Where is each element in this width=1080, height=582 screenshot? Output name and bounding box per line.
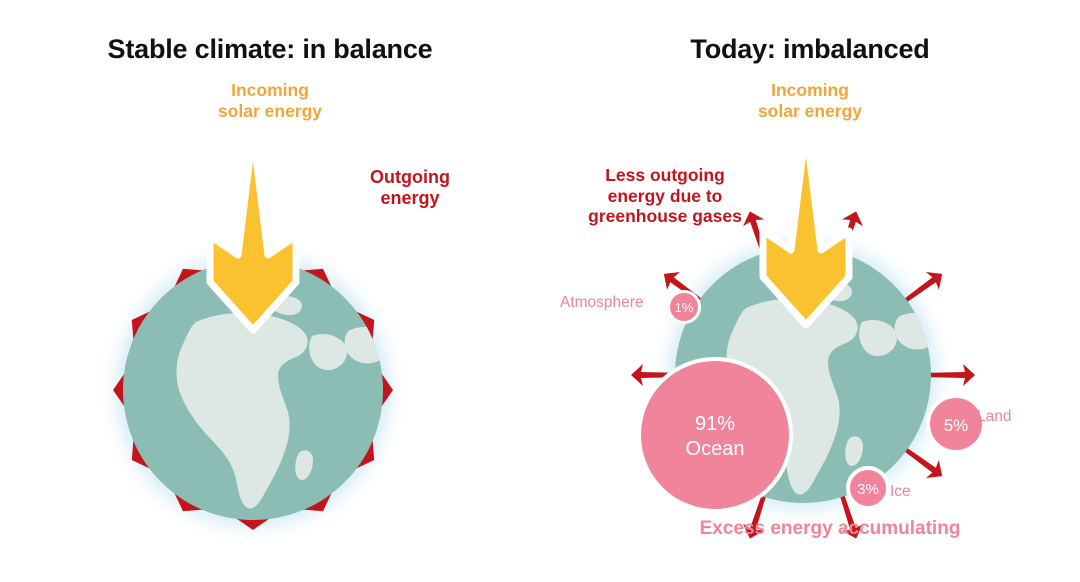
less-outgoing-line1: Less outgoing [605,165,725,185]
panel-title-stable: Stable climate: in balance [0,34,540,65]
outgoing-energy-label-left: Outgoing energy [330,167,490,209]
excess-energy-caption: Excess energy accumulating [600,518,1060,540]
incoming-solar-line1: Incoming [771,80,849,100]
outgoing-line1: Outgoing [370,167,450,187]
share-bubble-ocean-circle [639,359,791,511]
share-land-percent: 5% [944,416,969,435]
incoming-solar-label-left: Incoming solar energy [0,80,540,121]
share-ocean-percent: 91% [695,413,735,435]
outgoing-line2: energy [380,188,439,208]
share-atmosphere-percent: 1% [675,300,694,315]
share-ice-percent: 3% [857,481,879,498]
less-outgoing-energy-label: Less outgoing energy due to greenhouse g… [530,165,800,227]
panel-today-imbalanced: Today: imbalanced Incoming solar energy … [540,0,1080,582]
less-outgoing-line2: energy due to [608,186,723,206]
share-ice-label: Ice [890,483,911,501]
incoming-solar-label-right: Incoming solar energy [540,80,1080,121]
share-land-label: Land [977,408,1011,426]
share-bubble-land[interactable]: 5% [928,396,984,452]
less-outgoing-line3: greenhouse gases [588,206,742,226]
share-ocean-label: Ocean [686,438,745,460]
panel-title-today: Today: imbalanced [540,34,1080,65]
share-atmosphere-label: Atmosphere [560,294,644,312]
panel-stable-climate: Stable climate: in balance Incoming sola… [0,0,540,582]
incoming-solar-line2: solar energy [540,101,1080,122]
share-bubble-ocean[interactable]: 91% Ocean [639,359,791,511]
share-bubble-ice[interactable]: 3% [848,468,888,508]
climate-energy-balance-figure: Stable climate: in balance Incoming sola… [0,0,1080,582]
incoming-solar-arrow-left [210,133,296,330]
share-bubble-atmosphere[interactable]: 1% [669,292,700,323]
incoming-solar-line2: solar energy [0,101,540,122]
incoming-solar-line1: Incoming [231,80,309,100]
